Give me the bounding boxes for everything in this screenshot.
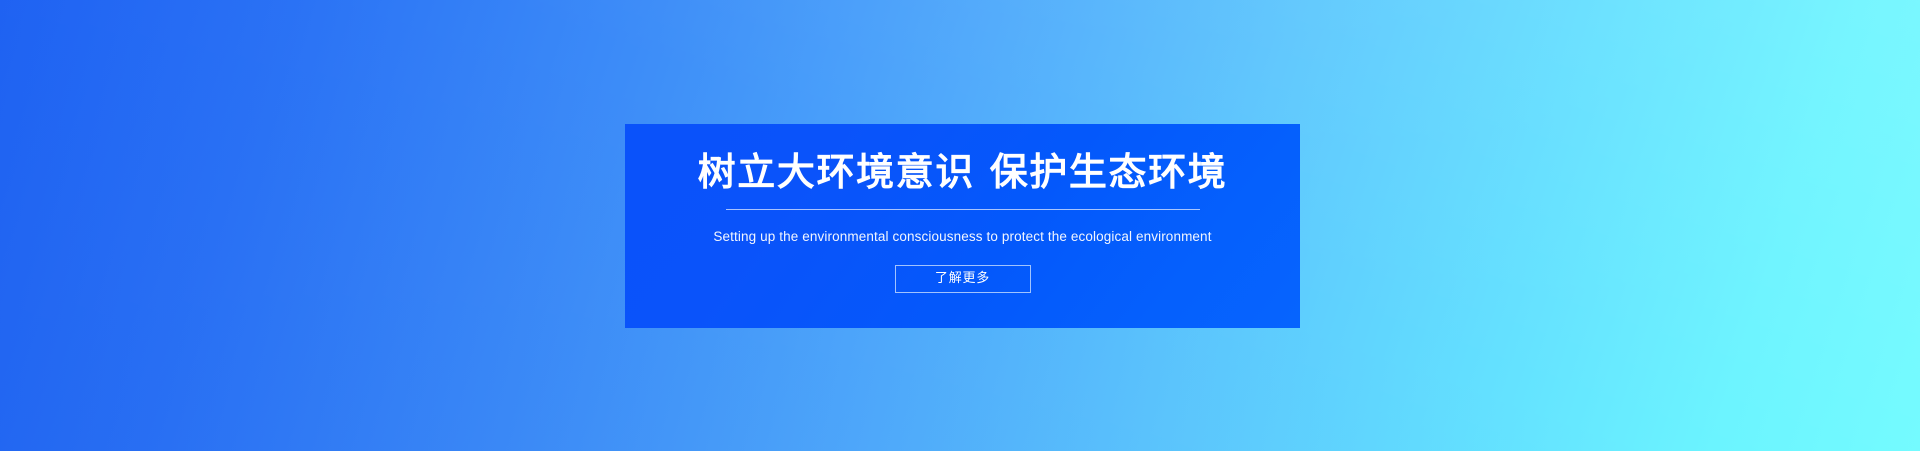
subtitle-text: Setting up the environmental consciousne… — [713, 228, 1211, 247]
page-title: 树立大环境意识 保护生态环境 — [698, 150, 1228, 195]
title-divider — [726, 209, 1200, 210]
hero-content-panel: 树立大环境意识 保护生态环境 Setting up the environmen… — [625, 124, 1300, 328]
hero-banner: 树立大环境意识 保护生态环境 Setting up the environmen… — [0, 0, 1920, 451]
learn-more-button[interactable]: 了解更多 — [895, 265, 1031, 293]
